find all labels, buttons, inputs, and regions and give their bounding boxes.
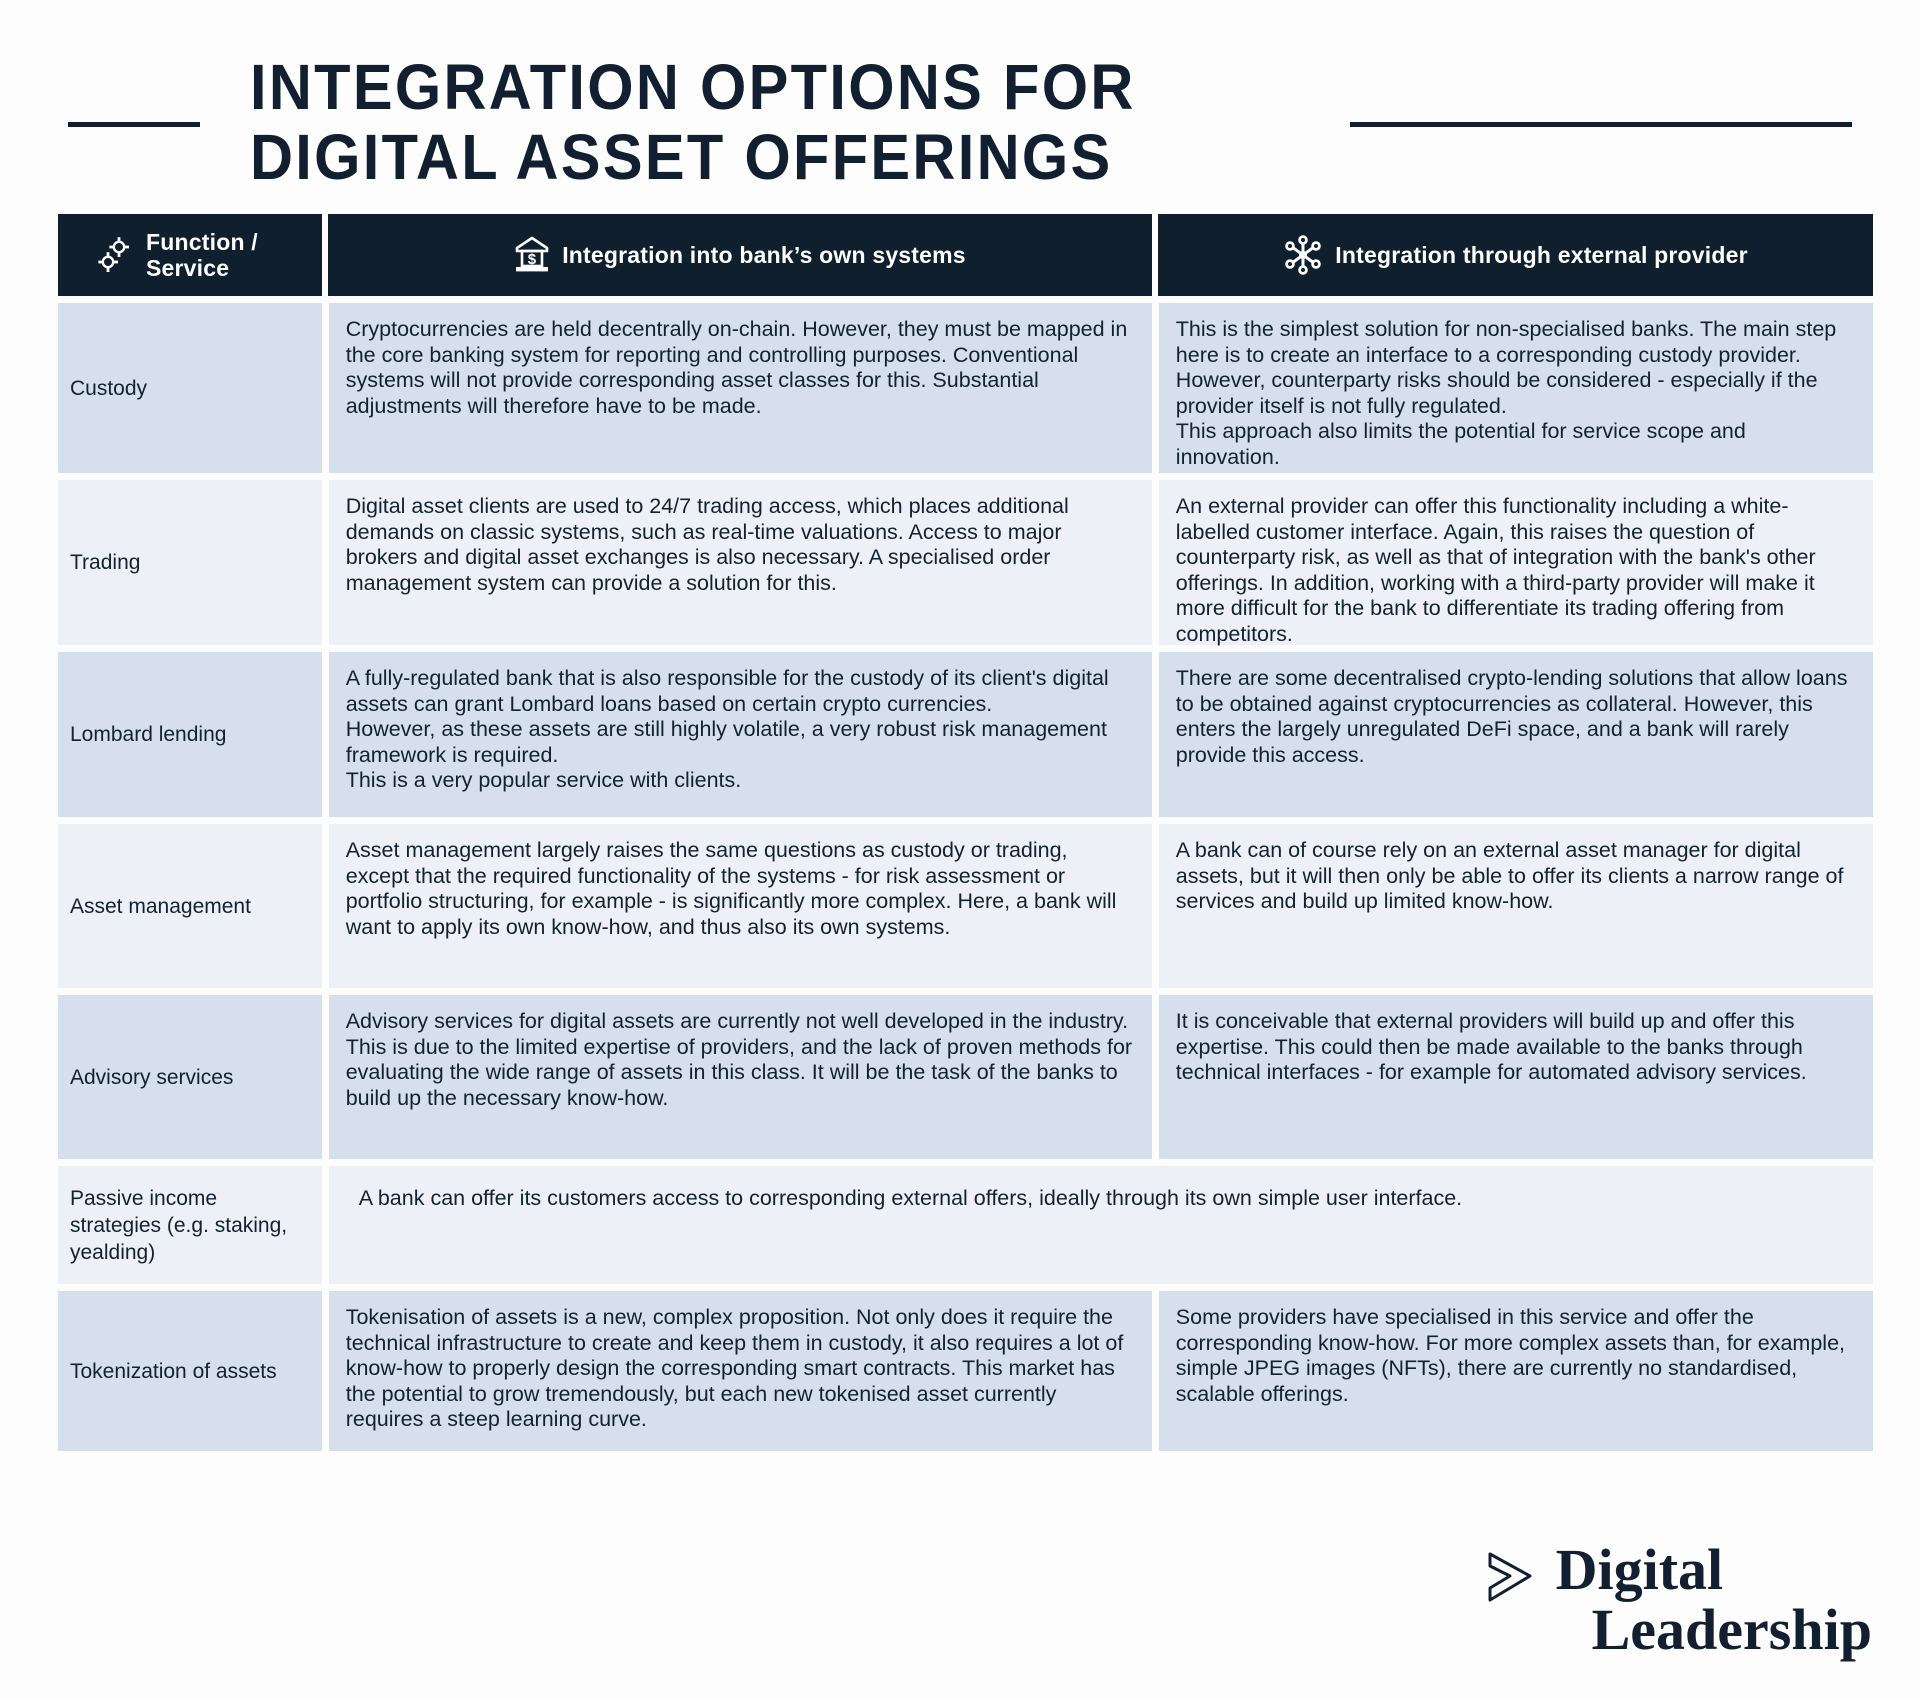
column-header-external-provider: Integration through external provider: [1158, 214, 1873, 296]
row-own-systems-text: Tokenisation of assets is a new, complex…: [329, 1291, 1152, 1451]
brand-logo-line-2: Leadership: [1556, 1600, 1872, 1660]
row-label: Trading: [58, 480, 322, 645]
column-header-own-systems: $ Integration into bank’s own systems: [328, 214, 1152, 296]
row-label: Asset management: [58, 824, 322, 988]
row-external-provider-text: Some providers have specialised in this …: [1159, 1291, 1873, 1451]
row-label: Passive income strategies (e.g. staking,…: [58, 1166, 322, 1284]
table-row: Passive income strategies (e.g. staking,…: [58, 1166, 1873, 1284]
table-row: Lombard lending A fully-regulated bank t…: [58, 652, 1873, 817]
chevron-right-outline-icon: [1482, 1550, 1538, 1616]
row-external-provider-text: There are some decentralised crypto-lend…: [1159, 652, 1873, 817]
page-title-block: Integration Options for Digital Asset Of…: [0, 36, 1920, 186]
network-nodes-icon: [1283, 235, 1323, 275]
column-header-function-service: Function / Service: [58, 214, 322, 296]
row-external-provider-text: An external provider can offer this func…: [1159, 480, 1873, 645]
column-header-own-systems-label: Integration into bank’s own systems: [562, 242, 966, 269]
column-header-line-1: Function /: [146, 229, 258, 255]
row-spanned-text: A bank can offer its customers access to…: [329, 1166, 1873, 1284]
page-title-line-1: Integration Options for: [250, 52, 1292, 122]
row-external-provider-text: This is the simplest solution for non-sp…: [1159, 303, 1873, 473]
column-header-line-2: Service: [146, 255, 229, 281]
column-header-external-provider-label: Integration through external provider: [1335, 242, 1748, 269]
row-own-systems-text: Advisory services for digital assets are…: [329, 995, 1152, 1159]
row-label: Lombard lending: [58, 652, 322, 817]
table-row: Advisory services Advisory services for …: [58, 995, 1873, 1159]
row-own-systems-text: Digital asset clients are used to 24/7 t…: [329, 480, 1152, 645]
row-own-systems-text: A fully-regulated bank that is also resp…: [329, 652, 1152, 817]
row-own-systems-text: Cryptocurrencies are held decentrally on…: [329, 303, 1152, 473]
row-own-systems-text: Asset management largely raises the same…: [329, 824, 1152, 988]
table-row: Custody Cryptocurrencies are held decent…: [58, 303, 1873, 473]
table-row: Tokenization of assets Tokenisation of a…: [58, 1291, 1873, 1451]
table-row: Trading Digital asset clients are used t…: [58, 480, 1873, 645]
svg-text:$: $: [528, 251, 537, 268]
brand-logo: Digital Leadership: [1482, 1540, 1872, 1660]
brand-logo-line-1: Digital: [1556, 1540, 1872, 1600]
row-external-provider-text: A bank can of course rely on an external…: [1159, 824, 1873, 988]
row-label: Custody: [58, 303, 322, 473]
bank-dollar-icon: $: [514, 236, 550, 274]
infographic-page: Integration Options for Digital Asset Of…: [0, 0, 1920, 1700]
row-external-provider-text: It is conceivable that external provider…: [1159, 995, 1873, 1159]
page-title-line-2: Digital Asset Offerings: [250, 122, 1292, 192]
page-title: Integration Options for Digital Asset Of…: [250, 52, 1292, 192]
row-label: Tokenization of assets: [58, 1291, 322, 1451]
table-header-row: Function / Service $ Integration into ba…: [58, 214, 1873, 296]
title-rule-right: [1350, 122, 1852, 127]
title-rule-left: [68, 122, 200, 127]
brand-logo-text: Digital Leadership: [1556, 1540, 1872, 1660]
gears-icon: [96, 235, 134, 275]
table-row: Asset management Asset management largel…: [58, 824, 1873, 988]
row-label: Advisory services: [58, 995, 322, 1159]
comparison-table: Function / Service $ Integration into ba…: [58, 214, 1873, 1458]
column-header-function-service-label: Function / Service: [146, 229, 258, 281]
table-body: Custody Cryptocurrencies are held decent…: [58, 303, 1873, 1451]
